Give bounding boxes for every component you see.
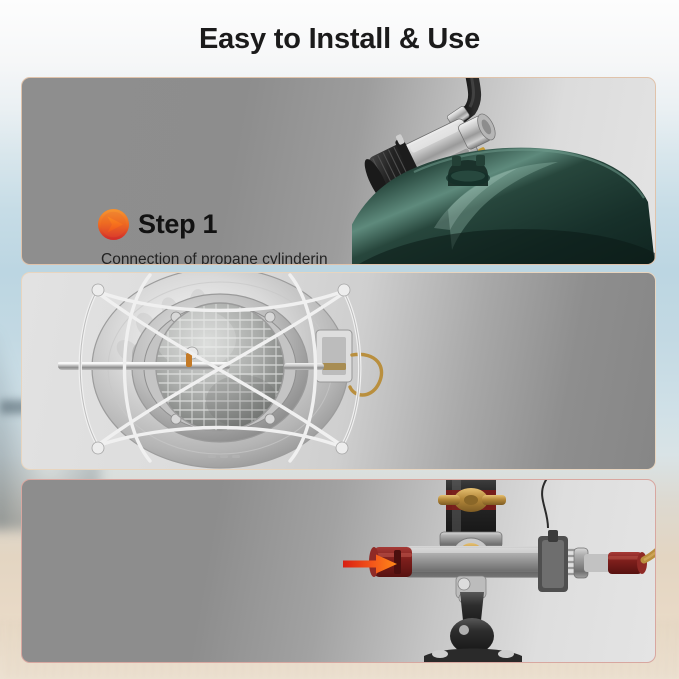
step-panel-1: Step 1 Connection of propane cylinderin bbox=[21, 77, 656, 265]
burner-head-cage-illustration bbox=[58, 272, 388, 470]
step-1-body: Connection of propane cylinderin bbox=[101, 249, 328, 265]
red-arrow-pointing-right-at-plunger bbox=[343, 554, 398, 574]
step-1-text-block: Step 1 Connection of propane cylinderin bbox=[98, 209, 328, 265]
play-arrow-right-icon bbox=[98, 209, 129, 240]
step-panel-3: Step 3 Once the burner is lit, continue … bbox=[21, 479, 656, 663]
step-1-title: Step 1 bbox=[138, 209, 217, 240]
step-1-heading: Step 1 bbox=[98, 209, 328, 240]
step-panel-2: Step 2 bbox=[21, 272, 656, 470]
page-title: Easy to Install & Use bbox=[0, 23, 679, 56]
propane-cylinder-regulator-illustration bbox=[352, 78, 656, 265]
